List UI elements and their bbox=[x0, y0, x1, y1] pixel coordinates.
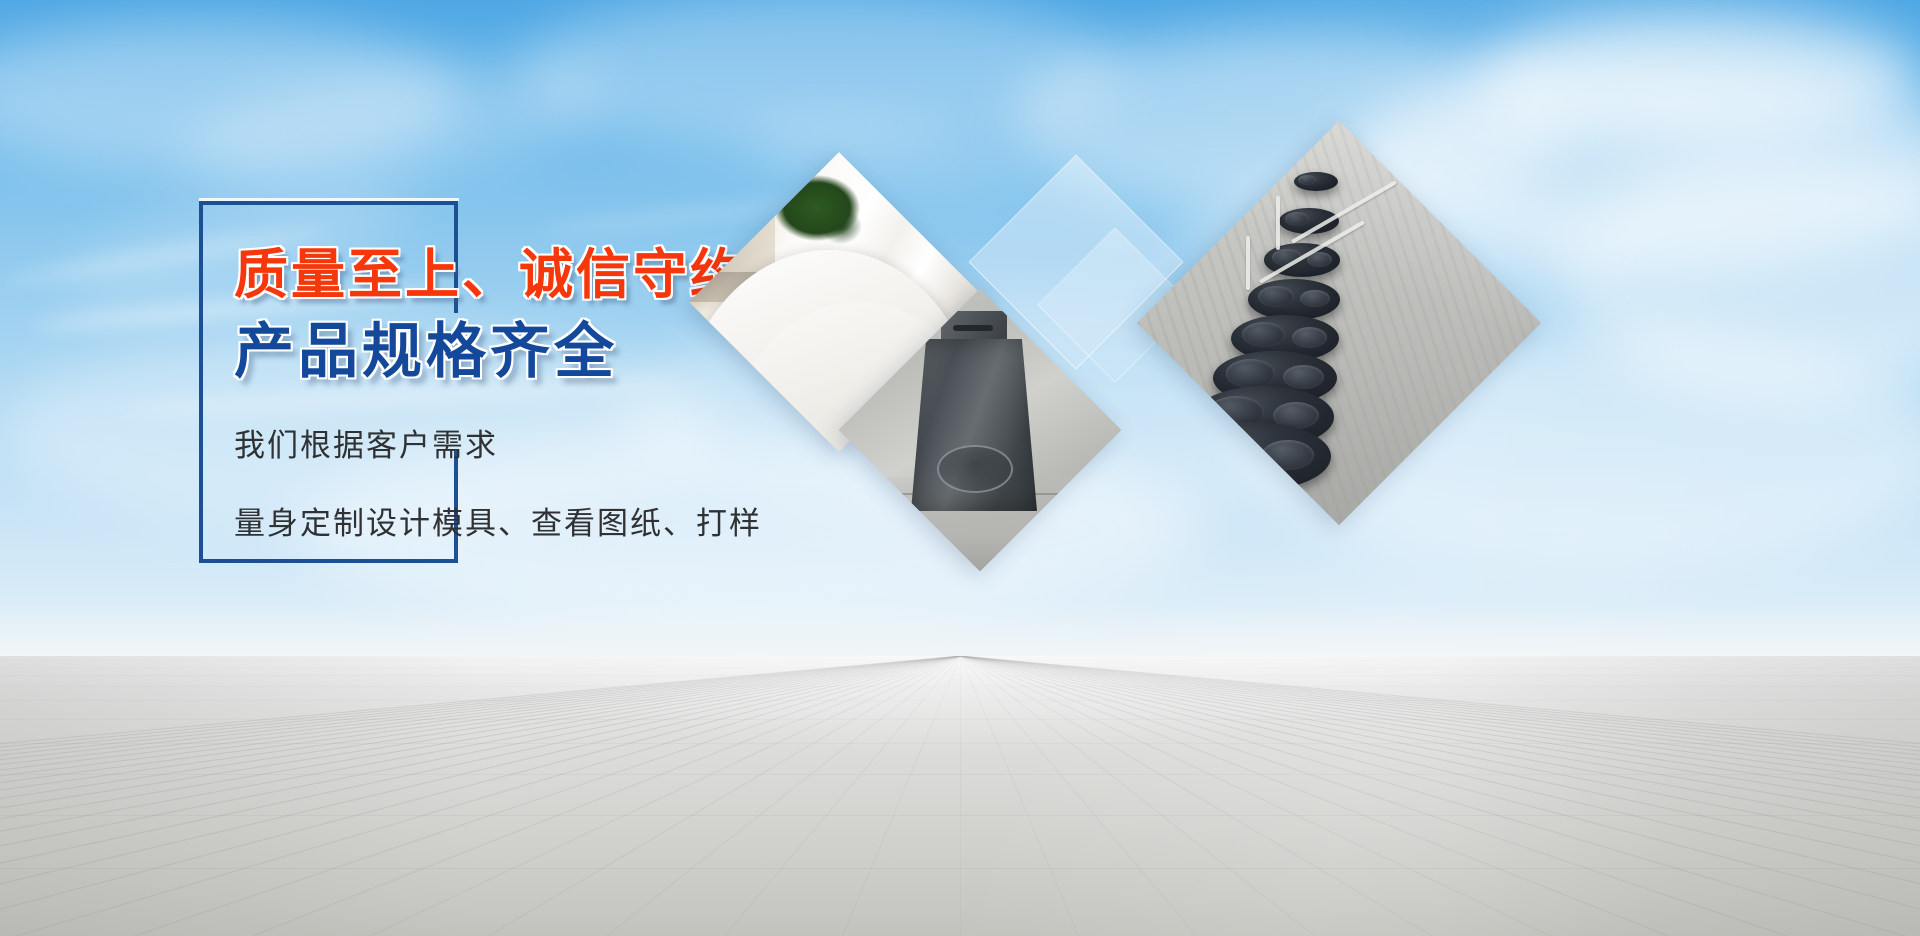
tank-cap bbox=[1298, 175, 1316, 185]
bin-slot bbox=[953, 325, 993, 331]
promo-banner: 质量至上、诚信守约 产品规格齐全 我们根据客户需求 量身定制设计模具、查看图纸、… bbox=[0, 0, 1920, 936]
plaza-vignette bbox=[0, 656, 1920, 936]
handrail bbox=[1276, 196, 1280, 250]
tank-cap bbox=[1300, 290, 1330, 308]
tank-cap bbox=[1242, 322, 1285, 347]
bin-hole bbox=[937, 445, 1013, 493]
tank-cap bbox=[1292, 327, 1328, 348]
plaza-ground bbox=[0, 656, 1920, 936]
tank-unit bbox=[1248, 279, 1340, 319]
subline-second: 量身定制设计模具、查看图纸、打样 bbox=[234, 500, 934, 547]
tank-cap bbox=[1285, 212, 1309, 226]
tank-cap bbox=[1258, 286, 1295, 307]
tank-cap bbox=[1226, 359, 1276, 387]
cloud-shape bbox=[1480, 10, 1920, 140]
tank-cap bbox=[1283, 365, 1324, 389]
handrail bbox=[1246, 236, 1250, 290]
